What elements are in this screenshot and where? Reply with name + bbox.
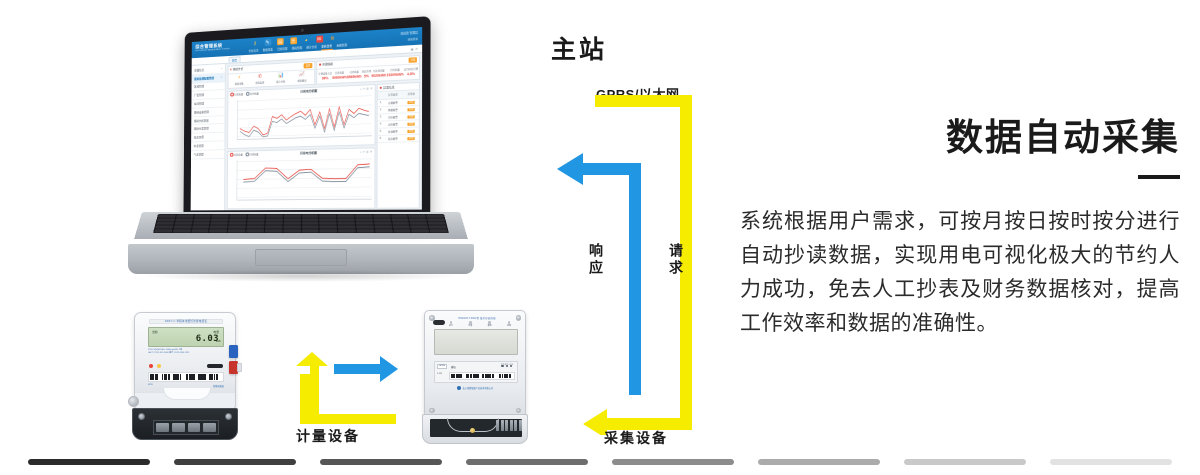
collector-model-caption: HND2M-Y3002型 集中抄表终端 — [442, 316, 512, 320]
laptop: 综合管理系统 INTEGRATED MANAGEMENT SYSTEM ⚷ ✎ … — [110, 24, 492, 306]
gradient-bar-7 — [1050, 459, 1172, 465]
infrared-port-icon — [433, 320, 445, 325]
keyboard-row — [156, 222, 446, 225]
status-badge[interactable]: 详情 — [407, 130, 414, 133]
screw-icon — [516, 315, 522, 321]
refresh-icon[interactable]: ⟳ — [416, 46, 418, 50]
sidebar-label-8: 电表管理 — [194, 135, 204, 139]
quick-action-label-0: 能耗采集 — [235, 82, 244, 86]
webcam-icon — [301, 29, 304, 32]
collector-brand-row: 长沙铭牌能源产业技术有限公司 — [425, 386, 525, 390]
kpi-value-2: 8565kWh — [347, 75, 362, 80]
daily-chart-plot — [228, 91, 375, 148]
kpi-key-2: 日待机量 — [350, 70, 359, 75]
gradient-bar-6 — [904, 459, 1026, 465]
meter-spec-line-1: GB/T 17215.321-2008 编号: 2021 0356 1122 — [148, 352, 224, 355]
settings-icon[interactable]: ⚙ — [370, 87, 372, 90]
settings-icon[interactable]: ⚙ — [370, 150, 372, 153]
led-label-0: 运行 — [449, 324, 453, 327]
legend-label-0: 日用电量 — [234, 92, 243, 96]
sidebar: 基础信息 « 能耗监测配置管理 « 区域管理 厂区管理 车间管理 能耗设备管理 — [191, 64, 226, 210]
led-label-1: 告警 — [468, 324, 472, 327]
monthly-chart-tools: ⤓ ⟳ ▥ ⚙ — [360, 150, 372, 153]
module-title: 模块 — [451, 365, 456, 369]
quick-actions-title: 快捷方式 — [233, 67, 243, 71]
save-icon[interactable]: ⤓ — [360, 150, 361, 153]
screw-icon — [138, 413, 145, 420]
gradient-bar-2 — [320, 459, 442, 465]
edit-icon[interactable]: ✎ — [264, 39, 271, 46]
laptop-lid: 综合管理系统 INTEGRATED MANAGEMENT SYSTEM ⚷ ✎ … — [183, 16, 430, 220]
dashboard-main: 快捷方式 设置 ⚡ 能耗采集 — [225, 53, 422, 211]
trend-chart-icon: 📈 — [299, 73, 305, 78]
alarm-title-group: 异常信息 — [380, 85, 395, 90]
lcd-left-label: 当前 — [152, 330, 158, 334]
kpi-key-3: 同比升降 — [362, 69, 371, 74]
legend-label-1: 日待机量 — [250, 92, 259, 96]
quick-action-3[interactable]: 📈 报表输出 — [298, 73, 307, 83]
legend-item-1[interactable]: 日待机量 — [245, 92, 258, 97]
monthly-chart-title: 月用电分析图 — [300, 151, 317, 155]
alarm-table: 异常类型 异常值 1 过载报警 — [378, 91, 419, 143]
collector-lcd-display — [434, 329, 518, 355]
kpi-value-4: 9020kWh — [371, 74, 386, 79]
chart-pie-icon[interactable]: ◕ — [303, 36, 310, 43]
sidebar-label-0: 基础信息 — [194, 68, 204, 72]
kpi-0: 计费设备占比 98% — [318, 71, 332, 81]
meter-side-tab — [237, 363, 242, 372]
dashboard-body: 基础信息 « 能耗监测配置管理 « 区域管理 厂区管理 车间管理 能耗设备管理 — [191, 53, 422, 211]
kpi-value-5: 15200kWh — [386, 73, 403, 78]
save-icon[interactable]: ⤓ — [360, 87, 361, 90]
kpi-2: 日待机量 8565kWh — [347, 70, 362, 80]
sidebar-label-10: 气表管理 — [194, 152, 204, 156]
sidebar-label-3: 厂区管理 — [194, 93, 204, 97]
monthly-chart-legend: 月用电量 月待机量 — [229, 152, 258, 157]
kpi-key-1: 日用电量 — [335, 70, 344, 74]
sidebar-label-5: 能耗设备管理 — [194, 110, 209, 114]
kpi-4: 月总用电量 9020kWh — [371, 68, 386, 78]
meter-brand: MTR — [148, 384, 153, 388]
daily-chart-tools: ⤓ ⟳ ▥ ⚙ — [360, 87, 372, 91]
kpi-title: 关键指标 — [322, 62, 333, 67]
tab-home[interactable]: 首页 — [229, 56, 241, 63]
legend-item-1[interactable]: 月待机量 — [245, 152, 258, 156]
laptop-shadow — [140, 270, 462, 282]
kpi-title-group: 关键指标 — [319, 62, 333, 67]
grid-icon[interactable]: ▦ — [411, 47, 414, 51]
led-yellow-icon — [157, 364, 161, 368]
device-link-arrows — [288, 352, 398, 424]
quick-action-label-1: 用电监测 — [255, 81, 264, 85]
monthly-chart-panel: 月用电量 月待机量 月用电分析图 ⤓ ⟳ ▥ — [226, 147, 375, 209]
kpi-key-4: 月总用电量 — [373, 68, 385, 73]
bar-icon[interactable]: ▥ — [366, 150, 368, 153]
collector-terminal-clamps — [496, 420, 522, 431]
quick-actions-settings-button[interactable]: 设置 — [304, 63, 312, 68]
collector-barcode — [449, 372, 515, 380]
led-red-icon — [149, 364, 153, 368]
charts-column: 日用电量 日待机量 日用电分析图 ⤓ ⟳ ▥ — [226, 84, 375, 210]
kpi-1: 日用电量 5060kWh — [332, 70, 347, 80]
led-label-3: 电源 — [507, 324, 511, 327]
collector-status-leds: 运行 告警 通讯 电源 — [449, 321, 511, 327]
sidebar-label-7: 能耗分类管理 — [194, 127, 209, 131]
meter-brand-sub: 智能电能表 — [213, 384, 224, 388]
daily-chart-panel: 日用电量 日待机量 日用电分析图 ⤓ ⟳ ▥ — [227, 84, 376, 150]
status-badge[interactable]: 详情 — [407, 101, 414, 104]
kpi-key-6: 去月同比升降 — [404, 67, 418, 72]
collector-barcode-label: K 3W — [437, 373, 442, 375]
logout-button[interactable]: 退出登录 — [408, 37, 418, 42]
meter-bottom-curve — [135, 393, 235, 409]
bullet-icon — [230, 69, 232, 71]
diagram-canvas: 主站 GPRS/以太网 响应 请求 采集设备 计量设备 综合管理系统 INTEG… — [0, 0, 1200, 475]
list-icon[interactable]: ☰ — [290, 37, 297, 44]
collector-lcd-footnote: · · · · — [511, 356, 515, 358]
settings-icon[interactable]: ⚙ — [329, 35, 336, 42]
meter-seal-screw-icon — [128, 396, 139, 407]
quick-actions-panel: 快捷方式 设置 ⚡ 能耗采集 — [227, 60, 315, 89]
kpi-5: 月待机量 15200kWh — [386, 67, 403, 77]
tab-tools: ▦ ⟳ — [411, 46, 418, 51]
gradient-bar-4 — [612, 459, 734, 465]
mail-icon[interactable]: ✉ — [316, 35, 323, 42]
bar-icon[interactable]: ▥ — [366, 87, 368, 90]
bolt-icon: ⚡ — [238, 76, 241, 81]
screw-icon — [516, 408, 522, 414]
alarm-row-type: 失压报警 — [383, 134, 403, 142]
collection-device-label: 采集设备 — [604, 428, 668, 448]
collection-device: HND2M-Y3002型 集中抄表终端 运行 告警 通讯 电源 · · · · … — [418, 310, 532, 446]
alarm-panel: 异常信息 异常类型 异常值 — [377, 82, 421, 209]
kpi-value-0: 98% — [322, 76, 329, 80]
keyboard-row — [157, 218, 445, 221]
sidebar-label-2: 区域管理 — [194, 85, 204, 89]
led-comm: 通讯 — [488, 321, 492, 327]
sidebar-label-9: 水表管理 — [194, 144, 204, 148]
meter-lcd-display: 当前 电量 kWh 6.03 — [148, 327, 224, 347]
meter-indicator-leds — [149, 363, 223, 369]
brand-logo-icon — [457, 386, 461, 390]
collector-body: HND2M-Y3002型 集中抄表终端 运行 告警 通讯 电源 · · · · … — [424, 310, 526, 418]
right-text-panel: 数据自动采集 系统根据用户需求，可按月按日按时按分进行自动抄读数据，实现用电可视… — [740, 118, 1180, 341]
meter-terminal-clamps — [153, 420, 219, 435]
bar-chart-icon: 📊 — [278, 74, 284, 79]
led-run: 运行 — [449, 321, 453, 327]
key-icon[interactable]: ⚷ — [252, 40, 259, 47]
meter-body: DDZY-C 单相本地费控智能电能表 当前 电量 kWh 6.03 220V 5… — [134, 312, 236, 410]
kpi-value-6: 4.8% — [407, 72, 415, 77]
alarm-title: 异常信息 — [383, 85, 394, 90]
legend-item-0[interactable]: 月用电量 — [229, 153, 242, 157]
metering-device-label: 计量设备 — [296, 426, 360, 446]
request-label: 请求 — [669, 243, 683, 277]
description-text: 系统根据用户需求，可按月按日按时按分进行自动抄读数据，实现用电可视化极大的节约人… — [740, 205, 1180, 341]
dashboard-app: 综合管理系统 INTEGRATED MANAGEMENT SYSTEM ⚷ ✎ … — [191, 27, 423, 210]
status-badge[interactable]: 详情 — [407, 108, 414, 111]
page-title: 数据自动采集 — [740, 118, 1180, 159]
gradient-bar-0 — [28, 459, 150, 465]
collector-module-panel: GPRS 模块 信号强度 / 在线 K 3W — [434, 361, 518, 383]
lcd-value: 6.03 — [196, 334, 219, 344]
monthly-chart-plot — [227, 155, 374, 209]
trackpad[interactable] — [255, 249, 347, 266]
bottom-gradient-bars — [0, 459, 1200, 465]
quick-actions-title-group: 快捷方式 — [230, 67, 243, 72]
meter-blue-button[interactable] — [229, 345, 238, 358]
legend-label-0: 月用电量 — [234, 153, 243, 157]
user-greeting: 欢迎您 管理员 — [401, 30, 418, 35]
collector-brand: 长沙铭牌能源产业技术有限公司 — [462, 386, 493, 390]
kpi-value-3: 5% — [364, 74, 369, 78]
laptop-base — [110, 212, 492, 276]
sidebar-label-4: 车间管理 — [194, 102, 204, 106]
title-underline — [1138, 175, 1180, 179]
legend-label-1: 月待机量 — [250, 152, 259, 156]
collector-ground-screw-icon — [470, 428, 475, 433]
quick-action-label-3: 报表输出 — [298, 79, 307, 83]
gradient-bar-3 — [466, 459, 588, 465]
table-row[interactable]: 6 失压报警 详情 — [378, 134, 419, 142]
meter-spec-text: 220V 5(60)A 50Hz 1600imp/kWh 1级 GB/T 172… — [148, 349, 224, 355]
refresh-icon[interactable]: ⟳ — [363, 87, 365, 90]
phone-icon: ✆ — [258, 75, 262, 80]
sidebar-label-6: 能耗分析配置 — [194, 118, 209, 122]
response-label: 响应 — [589, 243, 603, 277]
kpi-3: 同比升降 5% — [362, 69, 371, 79]
quick-action-2[interactable]: 📊 统计分析 — [276, 74, 285, 84]
lcd-right-label: 电量 — [213, 330, 219, 334]
status-badge[interactable]: 详情 — [407, 123, 414, 126]
quick-action-1[interactable]: ✆ 用电监测 — [255, 75, 264, 85]
chevron-icon: « — [221, 75, 222, 79]
led-power: 电源 — [507, 321, 511, 327]
kpi-value-1: 5060kWh — [332, 76, 347, 81]
module-leds — [501, 365, 512, 367]
master-station-label: 主站 — [551, 30, 607, 66]
kpi-detail-button[interactable]: 详情 — [409, 57, 418, 63]
warning-icon — [380, 87, 382, 89]
bullet-icon — [319, 64, 321, 66]
chevron-icon: « — [221, 67, 222, 71]
daily-chart-title: 日用电分析图 — [300, 89, 317, 94]
led-label-2: 通讯 — [488, 324, 492, 327]
keyboard-row — [154, 229, 448, 232]
legend-item-0[interactable]: 日用电量 — [230, 92, 243, 96]
meter-terminal-block — [132, 408, 238, 440]
quick-action-label-2: 统计分析 — [276, 80, 285, 84]
gradient-bar-1 — [174, 459, 296, 465]
meter-barcode — [148, 372, 224, 382]
module-type-label: GPRS — [437, 364, 447, 369]
sidebar-label-1: 能耗监测配置管理 — [194, 76, 214, 81]
refresh-icon[interactable]: ⟳ — [363, 150, 365, 153]
keyboard-row — [155, 226, 447, 229]
metering-device: DDZY-C 单相本地费控智能电能表 当前 电量 kWh 6.03 220V 5… — [126, 312, 244, 444]
charts-row: 日用电量 日待机量 日用电分析图 ⤓ ⟳ ▥ — [226, 82, 420, 210]
rightward-arrow-path — [334, 356, 398, 382]
sidebar-item-10[interactable]: 气表管理 — [191, 150, 224, 159]
meter-button[interactable] — [207, 364, 223, 368]
kpi-key-5: 月待机量 — [390, 68, 399, 73]
status-badge[interactable]: 详情 — [407, 115, 414, 118]
meter-model-caption: DDZY-C 单相本地费控智能电能表 — [149, 319, 223, 324]
keyboard[interactable] — [153, 214, 449, 233]
laptop-screen: 综合管理系统 INTEGRATED MANAGEMENT SYSTEM ⚷ ✎ … — [191, 27, 423, 210]
quick-action-0[interactable]: ⚡ 能耗采集 — [235, 76, 244, 86]
keyboard-row — [158, 215, 444, 218]
legend-dot-icon — [230, 93, 234, 97]
collector-terminal-block — [422, 414, 528, 444]
screw-icon — [429, 408, 435, 414]
gradient-bar-5 — [758, 459, 880, 465]
led-alarm: 告警 — [468, 321, 472, 327]
legend-dot-icon — [245, 153, 249, 157]
legend-dot-icon — [245, 92, 249, 96]
legend-dot-icon — [229, 153, 233, 157]
screw-icon — [225, 413, 232, 420]
kpi-6: 去月同比升降 4.8% — [404, 67, 418, 77]
kpi-key-0: 计费设备占比 — [318, 71, 332, 76]
kpi-panel: 关键指标 详情 计费设备占比 98% — [316, 55, 420, 86]
calendar-icon[interactable]: ▤ — [277, 38, 284, 45]
status-badge[interactable]: 详情 — [407, 137, 414, 140]
